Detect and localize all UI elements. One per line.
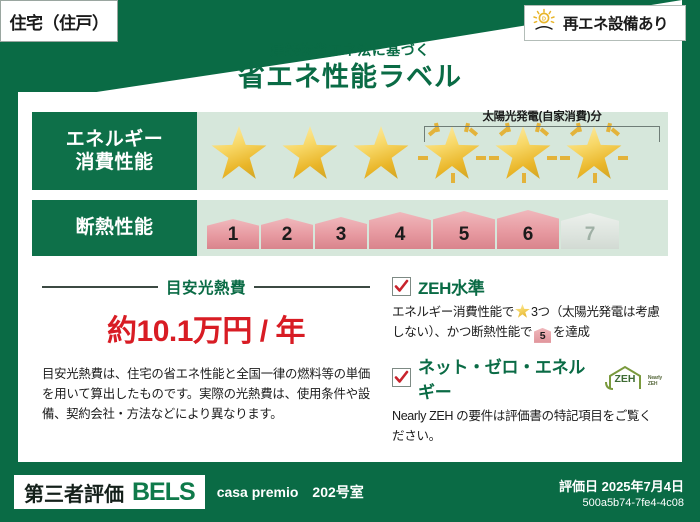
svg-text:ZEH: ZEH [614, 373, 635, 385]
heading-rule-left [42, 286, 158, 288]
evaluation-id: 500a5b74-7fe4-4c08 [559, 497, 684, 509]
insulation-grade-scale: 1234567 [197, 200, 668, 256]
bels-jp-label: 第三者評価 [24, 478, 124, 507]
zeh-body-part3: を達成 [553, 325, 590, 339]
housing-type-tag: 住宅（住戸） [0, 0, 118, 42]
utility-cost-heading: 目安光熱費 [42, 276, 370, 298]
utility-cost-heading-text: 目安光熱費 [166, 276, 246, 298]
energy-label-line2: 消費性能 [75, 151, 153, 174]
solar-sun-icon: D [531, 8, 557, 39]
star-icon [211, 126, 267, 180]
label-frame: 住宅（住戸） D 再エネ設備あり 建築物省エネ法に基づく [0, 0, 700, 522]
star-sparkle-icon [489, 156, 499, 160]
net-zero-header: ネット・ゼロ・エネルギー ZEH NearlyZEH [392, 353, 662, 403]
certification-column: ZEH水準 エネルギー消費性能で3つ（太陽光発電は考慮しない）、かつ断熱性能で5… [380, 268, 668, 456]
bels-en-label: BELS [132, 478, 195, 507]
star-3 [347, 118, 415, 184]
star-sparkle-icon [522, 173, 526, 183]
svg-text:D: D [542, 16, 546, 22]
page-title: 省エネ性能ラベル [0, 61, 700, 95]
evaluation-date: 評価日 2025年7月4日 [559, 476, 684, 495]
heading-rule-right [254, 286, 370, 288]
house-grade-icon: 5 [534, 328, 551, 343]
solar-bracket [424, 126, 660, 142]
zeh-logo-subtext: NearlyZEH [648, 376, 662, 391]
star-sparkle-icon [593, 173, 597, 183]
insulation-grade-1: 1 [207, 219, 259, 249]
star-sparkle-icon [560, 156, 570, 160]
renewable-badge-label: 再エネ設備あり [563, 12, 668, 34]
room-number: 202号室 [312, 482, 363, 502]
zeh-body-part1: エネルギー消費性能で [392, 305, 514, 319]
star-sparkle-icon [476, 156, 486, 160]
utility-cost-value: 約10.1万円 / 年 [42, 306, 370, 350]
net-zero-energy-block: ネット・ゼロ・エネルギー ZEH NearlyZEH [392, 353, 662, 447]
insulation-grade-7: 7 [561, 213, 619, 249]
utility-cost-note: 目安光熱費は、住宅の省エネ性能と全国一律の燃料等の単価を用いて算出したものです。… [42, 364, 370, 424]
star-1 [205, 118, 273, 184]
star-2 [276, 118, 344, 184]
title-subtitle: 建築物省エネ法に基づく [0, 42, 700, 59]
insulation-performance-row: 断熱性能 1234567 [32, 200, 668, 256]
net-zero-title: ネット・ゼロ・エネルギー [418, 353, 593, 403]
insulation-performance-label: 断熱性能 [32, 200, 197, 256]
zeh-house-logo: ZEH NearlyZEH [604, 365, 662, 391]
insulation-grades-area: 1234567 [197, 200, 668, 256]
insulation-grade-5: 5 [433, 211, 495, 249]
bels-badge: 第三者評価 BELS [14, 475, 205, 509]
net-zero-checkbox[interactable] [392, 368, 411, 387]
star-sparkle-icon [451, 173, 455, 183]
property-name: casa premio [217, 484, 299, 500]
energy-label-line1: エネルギー [66, 128, 164, 151]
solar-bracket-caption: 太陽光発電(自家消費)分 [424, 108, 660, 124]
star-sparkle-icon [618, 156, 628, 160]
footer-meta: 評価日 2025年7月4日 500a5b74-7fe4-4c08 [559, 476, 684, 509]
footer: 第三者評価 BELS casa premio 202号室 評価日 2025年7月… [0, 462, 700, 522]
star-icon [515, 304, 530, 318]
content-panel: エネルギー 消費性能 断熱性能 1234567 目安光熱費 約10.1万 [18, 92, 682, 462]
zeh-standard-checkbox[interactable] [392, 277, 411, 296]
star-sparkle-icon [418, 156, 428, 160]
star-icon [282, 126, 338, 180]
star-icon [353, 126, 409, 180]
insulation-grade-4: 4 [369, 212, 431, 249]
net-zero-body: Nearly ZEH の要件は評価書の特記項目をご覧ください。 [392, 407, 662, 447]
zeh-standard-body: エネルギー消費性能で3つ（太陽光発電は考慮しない）、かつ断熱性能で5を達成 [392, 303, 662, 343]
renewable-equipment-badge: D 再エネ設備あり [524, 5, 686, 41]
star-sparkle-icon [547, 156, 557, 160]
insulation-grade-6: 6 [497, 210, 559, 249]
utility-cost-column: 目安光熱費 約10.1万円 / 年 目安光熱費は、住宅の省エネ性能と全国一律の燃… [32, 268, 380, 456]
zeh-standard-header: ZEH水準 [392, 274, 662, 299]
title-block: 建築物省エネ法に基づく 省エネ性能ラベル [0, 42, 700, 95]
zeh-standard-title: ZEH水準 [418, 274, 485, 299]
energy-performance-label: エネルギー 消費性能 [32, 112, 197, 190]
zeh-standard-block: ZEH水準 エネルギー消費性能で3つ（太陽光発電は考慮しない）、かつ断熱性能で5… [392, 274, 662, 343]
insulation-grade-3: 3 [315, 217, 367, 249]
insulation-grade-2: 2 [261, 218, 313, 249]
lower-section: 目安光熱費 約10.1万円 / 年 目安光熱費は、住宅の省エネ性能と全国一律の燃… [32, 268, 668, 456]
